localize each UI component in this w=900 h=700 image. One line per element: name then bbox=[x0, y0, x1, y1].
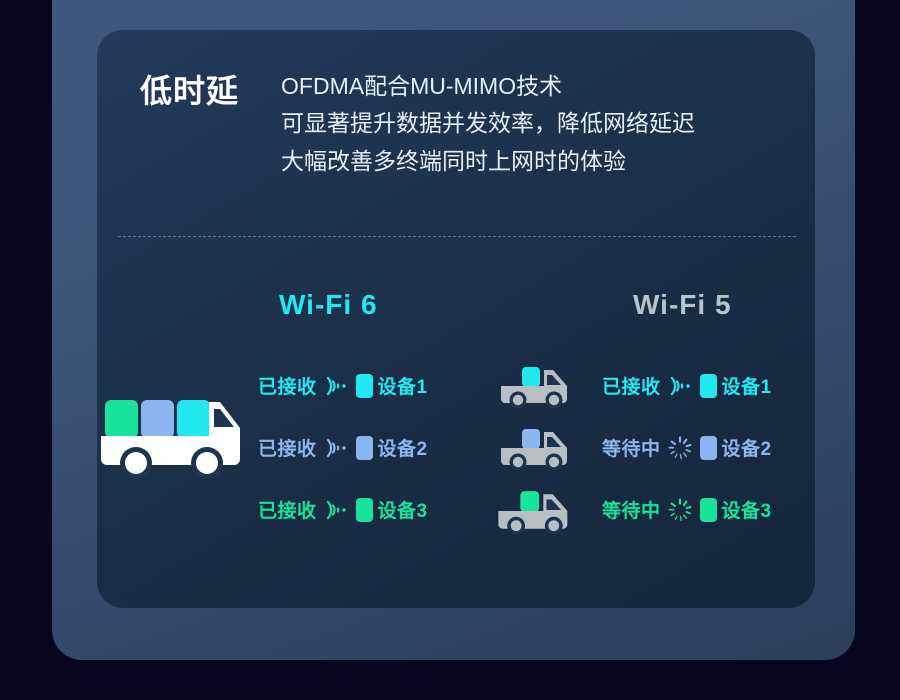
device-color-box bbox=[356, 436, 373, 460]
header-block: 低时延 OFDMA配合MU-MIMO技术 可显著提升数据并发效率，降低网络延迟 … bbox=[140, 68, 800, 180]
device-color-box bbox=[700, 498, 717, 522]
device-label: 设备2 bbox=[378, 434, 428, 461]
device-label: 设备2 bbox=[722, 434, 772, 461]
wifi5-device-row-3: 等待中 设备3 bbox=[602, 496, 772, 523]
page-title: 低时延 bbox=[140, 68, 239, 109]
description-line-3: 大幅改善多终端同时上网时的体验 bbox=[281, 143, 695, 180]
loading-spinner-icon bbox=[667, 436, 693, 460]
device-color-box bbox=[700, 436, 717, 460]
status-label: 已接收 bbox=[258, 372, 317, 399]
status-label: 等待中 bbox=[602, 434, 661, 461]
column-title-wifi5: Wi-Fi 5 bbox=[633, 289, 732, 321]
header-row: 低时延 OFDMA配合MU-MIMO技术 可显著提升数据并发效率，降低网络延迟 … bbox=[140, 68, 800, 180]
device-color-box bbox=[356, 498, 373, 522]
wifi6-device-row-1: 已接收 设备1 bbox=[258, 372, 428, 399]
description-block: OFDMA配合MU-MIMO技术 可显著提升数据并发效率，降低网络延迟 大幅改善… bbox=[281, 68, 695, 180]
wifi5-truck-3-icon bbox=[494, 488, 578, 539]
wifi5-device-row-2: 等待中 设备2 bbox=[602, 434, 772, 461]
device-label: 设备3 bbox=[722, 496, 772, 523]
device-color-box bbox=[356, 374, 373, 398]
loading-spinner-icon bbox=[667, 498, 693, 522]
wifi5-truck-2-icon bbox=[498, 426, 576, 475]
wifi6-device-row-3: 已接收 设备3 bbox=[258, 496, 428, 523]
status-label: 已接收 bbox=[258, 434, 317, 461]
page-root: 低时延 OFDMA配合MU-MIMO技术 可显著提升数据并发效率，降低网络延迟 … bbox=[0, 0, 900, 700]
wifi6-truck-icon bbox=[97, 396, 245, 483]
wifi-signal-icon bbox=[323, 498, 349, 522]
wifi-signal-icon bbox=[323, 374, 349, 398]
device-label: 设备1 bbox=[722, 372, 772, 399]
wifi-signal-icon bbox=[323, 436, 349, 460]
device-label: 设备3 bbox=[378, 496, 428, 523]
status-label: 已接收 bbox=[258, 496, 317, 523]
wifi6-device-row-2: 已接收 设备2 bbox=[258, 434, 428, 461]
wifi-signal-icon bbox=[667, 374, 693, 398]
wifi5-device-row-1: 已接收 设备1 bbox=[602, 372, 772, 399]
section-divider bbox=[118, 236, 796, 237]
wifi5-truck-1-icon bbox=[498, 364, 576, 413]
status-label: 已接收 bbox=[602, 372, 661, 399]
description-line-1: OFDMA配合MU-MIMO技术 bbox=[281, 68, 695, 105]
device-label: 设备1 bbox=[378, 372, 428, 399]
column-title-wifi6: Wi-Fi 6 bbox=[279, 289, 378, 321]
description-line-2: 可显著提升数据并发效率，降低网络延迟 bbox=[281, 105, 695, 142]
status-label: 等待中 bbox=[602, 496, 661, 523]
device-color-box bbox=[700, 374, 717, 398]
